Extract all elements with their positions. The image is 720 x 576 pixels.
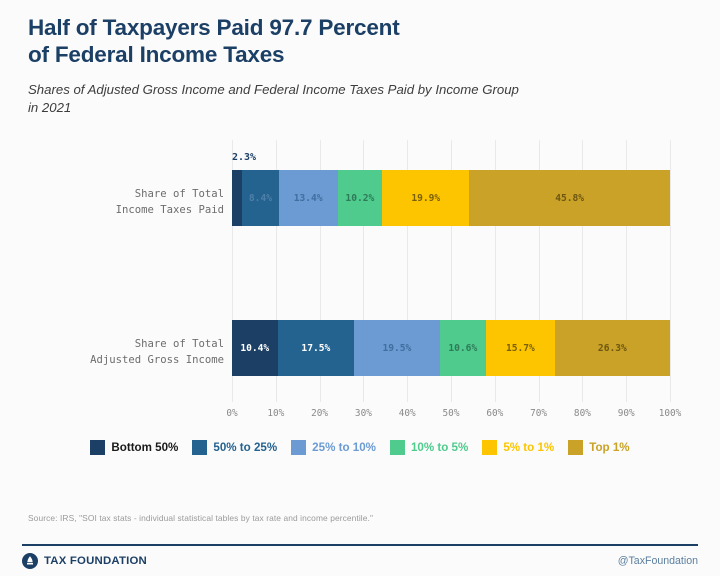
chart-legend: Bottom 50%50% to 25%25% to 10%10% to 5%5…	[0, 440, 720, 455]
stacked-bar: 10.4%17.5%19.5%10.6%15.7%26.3%	[232, 320, 670, 376]
legend-swatch	[390, 440, 405, 455]
bar-segment[interactable]: 19.5%	[354, 320, 439, 376]
x-axis-tick-label: 30%	[355, 408, 372, 419]
legend-label: Bottom 50%	[111, 441, 178, 454]
x-axis-tick-label: 0%	[226, 408, 237, 419]
legend-item[interactable]: 25% to 10%	[291, 440, 376, 455]
bar-segment[interactable]: 19.9%	[382, 170, 469, 226]
footer-divider	[22, 544, 698, 546]
category-label: Share of Total Adjusted Gross Income	[24, 337, 224, 369]
bar-segment[interactable]: 13.4%	[279, 170, 338, 226]
x-axis-tick-label: 60%	[486, 408, 503, 419]
bar-segment[interactable]: 15.7%	[486, 320, 555, 376]
chart-page: Half of Taxpayers Paid 97.7 Percent of F…	[0, 0, 720, 576]
gridline	[670, 140, 671, 402]
legend-swatch	[482, 440, 497, 455]
bar-segment[interactable]: 10.2%	[338, 170, 383, 226]
social-handle: @TaxFoundation	[618, 555, 698, 567]
tax-foundation-logo-icon	[22, 553, 38, 569]
legend-item[interactable]: Top 1%	[568, 440, 629, 455]
legend-label: Top 1%	[589, 441, 629, 454]
category-label: Share of Total Income Taxes Paid	[24, 187, 224, 219]
chart-header: Half of Taxpayers Paid 97.7 Percent of F…	[28, 14, 688, 117]
x-axis-tick-label: 80%	[574, 408, 591, 419]
x-axis-tick-label: 100%	[659, 408, 682, 419]
x-axis-tick-label: 70%	[530, 408, 547, 419]
legend-swatch	[90, 440, 105, 455]
bar-segment[interactable]: 17.5%	[278, 320, 355, 376]
x-axis-tick-label: 20%	[311, 408, 328, 419]
x-axis-tick-label: 10%	[267, 408, 284, 419]
legend-item[interactable]: 50% to 25%	[192, 440, 277, 455]
bar-segment[interactable]: 45.8%	[469, 170, 670, 226]
bar-segment[interactable]: 10.4%	[232, 320, 278, 376]
x-axis: 0%10%20%30%40%50%60%70%80%90%100%	[232, 408, 670, 426]
legend-label: 25% to 10%	[312, 441, 376, 454]
bar-segment[interactable]: 8.4%	[242, 170, 279, 226]
legend-swatch	[568, 440, 583, 455]
legend-label: 50% to 25%	[213, 441, 277, 454]
x-axis-tick-label: 40%	[399, 408, 416, 419]
legend-label: 5% to 1%	[503, 441, 554, 454]
x-axis-tick-label: 90%	[618, 408, 635, 419]
legend-item[interactable]: 5% to 1%	[482, 440, 554, 455]
legend-swatch	[291, 440, 306, 455]
bar-segment[interactable]: 26.3%	[555, 320, 670, 376]
brand-name: TAX FOUNDATION	[44, 555, 147, 567]
plot-area: Share of Total Income Taxes Paid2.3%8.4%…	[232, 140, 670, 402]
legend-label: 10% to 5%	[411, 441, 468, 454]
chart-subtitle: Shares of Adjusted Gross Income and Fede…	[28, 81, 668, 117]
legend-swatch	[192, 440, 207, 455]
x-axis-tick-label: 50%	[443, 408, 460, 419]
page-title: Half of Taxpayers Paid 97.7 Percent of F…	[28, 14, 688, 69]
chart-area: Share of Total Income Taxes Paid2.3%8.4%…	[0, 140, 720, 425]
source-note: Source: IRS, "SOI tax stats - individual…	[28, 513, 373, 523]
stacked-bar: 8.4%13.4%10.2%19.9%45.8%	[232, 170, 670, 226]
legend-item[interactable]: Bottom 50%	[90, 440, 178, 455]
footer: TAX FOUNDATION @TaxFoundation	[22, 550, 698, 572]
brand-lockup: TAX FOUNDATION	[22, 553, 147, 569]
bar-segment[interactable]	[232, 170, 242, 226]
segment-callout-label: 2.3%	[232, 152, 256, 163]
legend-item[interactable]: 10% to 5%	[390, 440, 468, 455]
bar-segment[interactable]: 10.6%	[440, 320, 486, 376]
